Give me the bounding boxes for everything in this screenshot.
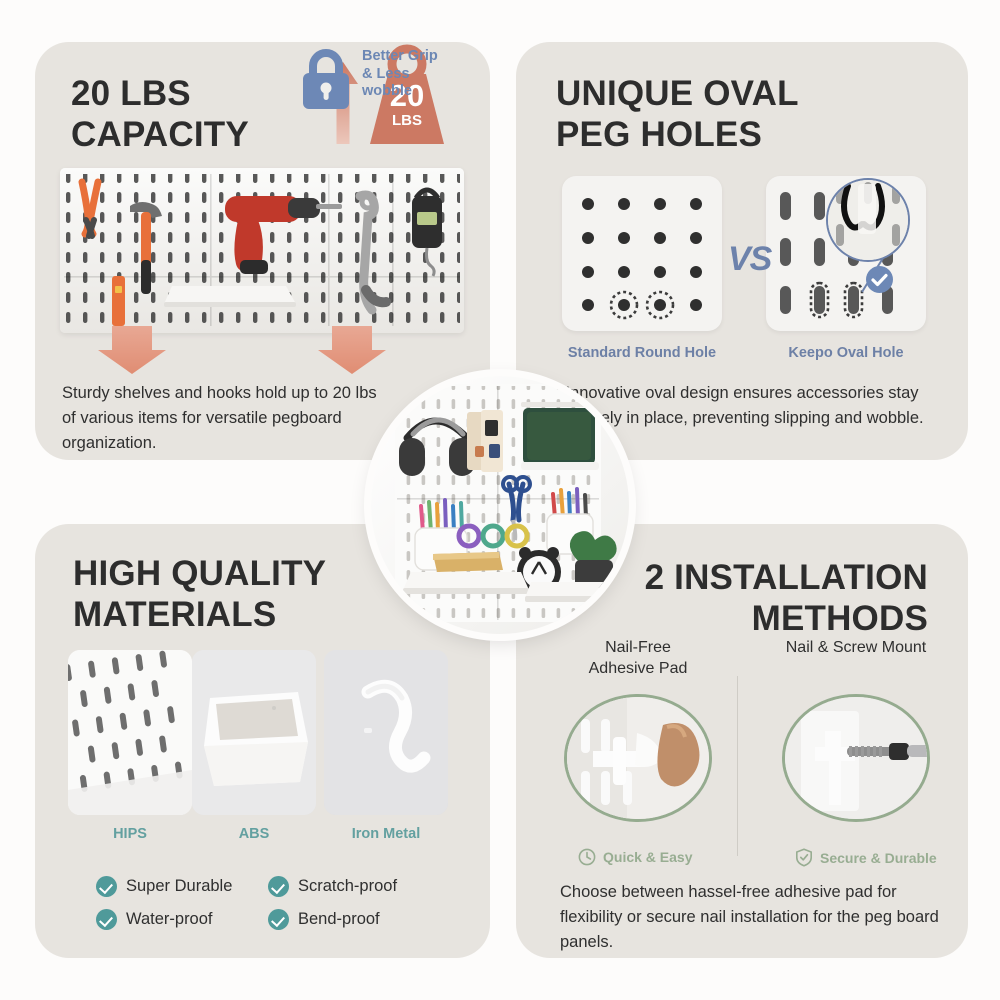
- feature-label: Bend-proof: [298, 910, 380, 929]
- lock-callout: Better Grip & Less wobble: [300, 48, 440, 138]
- feature-item: Bend-proof: [268, 909, 380, 930]
- standard-round-hole-label: Standard Round Hole: [547, 345, 737, 361]
- pegboard-tools-photo: [60, 168, 464, 333]
- method-title-line1: Nail & Screw Mount: [786, 639, 927, 656]
- load-direction-arrows: [60, 326, 464, 374]
- shield-check-icon: [795, 848, 813, 867]
- method-title-line2: Adhesive Pad: [589, 660, 688, 677]
- feature-item: Super Durable: [96, 876, 232, 897]
- round-holes-grid: [562, 176, 722, 331]
- wooden-box-item: [433, 552, 503, 572]
- down-arrow-icon: [318, 326, 386, 374]
- check-circle-icon: [96, 876, 117, 897]
- materials-headline-line1: HIGH QUALITY: [73, 554, 326, 593]
- capacity-headline-line2: CAPACITY: [71, 115, 249, 154]
- vs-label: VS: [728, 240, 771, 279]
- pegholes-headline-line1: UNIQUE OVAL: [556, 74, 799, 113]
- pegholes-description: Innovative oval design ensures accessori…: [546, 381, 938, 431]
- pegboard-panel-photo: [68, 650, 192, 815]
- method-divider: [737, 676, 738, 856]
- material-photo-hips: [68, 650, 192, 815]
- capacity-headline: 20 LBS CAPACITY: [71, 74, 249, 156]
- material-label-abs: ABS: [192, 826, 316, 842]
- material-photo-abs: [192, 650, 316, 815]
- clock-icon: [578, 848, 596, 866]
- installation-headline-line1: 2 INSTALLATION: [645, 558, 928, 597]
- hook-in-oval-hole-detail: [828, 180, 908, 260]
- pegholes-headline-line2: PEG HOLES: [556, 115, 762, 154]
- feature-item: Scratch-proof: [268, 876, 397, 897]
- feature-label: Scratch-proof: [298, 877, 397, 896]
- white-pegboard-desk-organizer: [371, 376, 629, 634]
- materials-headline: HIGH QUALITY MATERIALS: [73, 554, 326, 636]
- green-notebook-item: [521, 402, 599, 470]
- material-label-hips: HIPS: [68, 826, 192, 842]
- capacity-description: Sturdy shelves and hooks hold up to 20 l…: [62, 381, 392, 456]
- screwdriver-driving-screw: [785, 697, 930, 822]
- infographic-page: 20 LBS CAPACITY 20 LBS: [0, 0, 1000, 1000]
- material-photo-iron: [324, 650, 448, 815]
- material-label-iron: Iron Metal: [324, 826, 448, 842]
- check-circle-icon: [268, 876, 289, 897]
- lock-icon: [300, 48, 352, 110]
- standard-round-hole-panel: [562, 176, 722, 331]
- method-tag-label: Quick & Easy: [603, 849, 693, 865]
- check-circle-icon: [268, 909, 289, 930]
- down-arrow-icon: [98, 326, 166, 374]
- materials-headline-line2: MATERIALS: [73, 595, 276, 634]
- center-product-photo: [371, 376, 629, 634]
- feature-item: Water-proof: [96, 909, 213, 930]
- capacity-headline-line1: 20 LBS: [71, 74, 191, 113]
- pegboard-shelf: [164, 286, 296, 307]
- method-title-adhesive: Nail-Free Adhesive Pad: [538, 638, 738, 680]
- installation-headline: 2 INSTALLATION METHODS: [645, 558, 928, 640]
- pegholes-headline: UNIQUE OVAL PEG HOLES: [556, 74, 799, 156]
- check-circle-icon: [96, 909, 117, 930]
- feature-label: Water-proof: [126, 910, 213, 929]
- keepo-oval-hole-label: Keepo Oval Hole: [751, 345, 941, 361]
- magnifier-zoom-hook-detail: [826, 178, 910, 262]
- method-tag-label: Secure & Durable: [820, 850, 937, 866]
- method-photo-screw: [782, 694, 930, 822]
- level-tool: [112, 276, 125, 326]
- installation-description: Choose between hassel-free adhesive pad …: [560, 880, 950, 955]
- method-tag-secure-durable: Secure & Durable: [795, 848, 937, 867]
- method-title-screw: Nail & Screw Mount: [756, 638, 956, 659]
- lock-caption: Better Grip & Less wobble: [362, 48, 444, 101]
- hand-peeling-adhesive-pad: [567, 697, 712, 822]
- white-tray-photo: [192, 650, 316, 815]
- feature-label: Super Durable: [126, 877, 232, 896]
- method-tag-quick-easy: Quick & Easy: [578, 848, 693, 866]
- installation-headline-line2: METHODS: [752, 599, 928, 638]
- method-title-line1: Nail-Free: [605, 639, 671, 656]
- pegboard-tools-illustration: [60, 168, 464, 333]
- check-circle-icon: [866, 266, 893, 293]
- white-s-hook-photo: [324, 650, 448, 815]
- method-photo-adhesive: [564, 694, 712, 822]
- sticky-notes-item: [467, 410, 503, 472]
